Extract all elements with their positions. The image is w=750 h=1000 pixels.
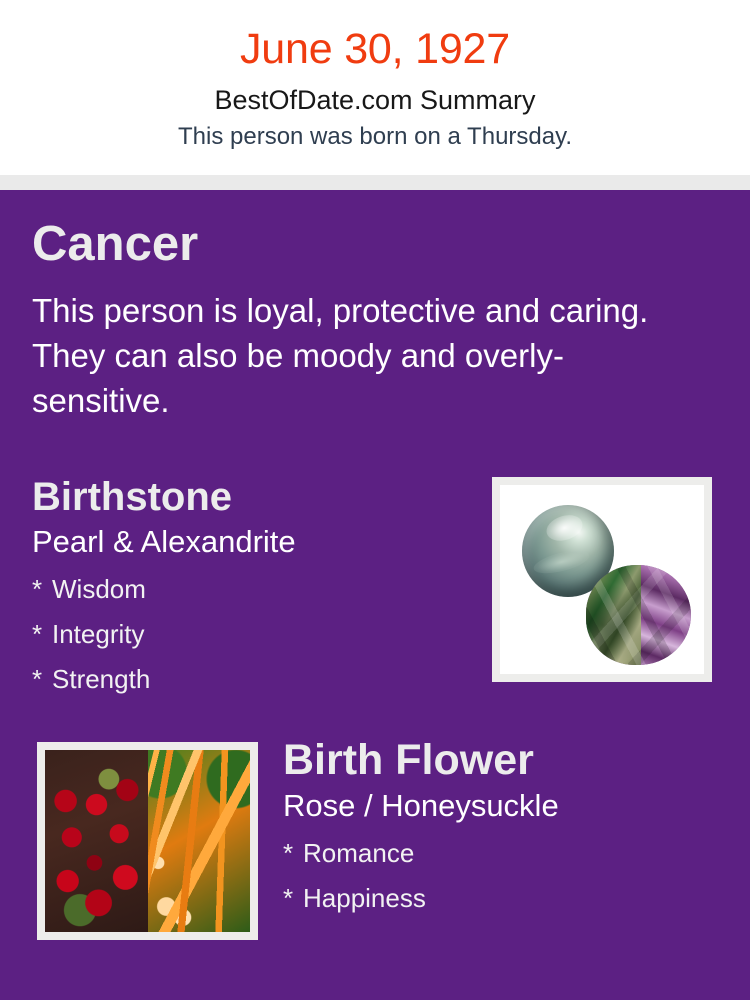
birthstone-trait-label: Strength xyxy=(52,664,150,694)
zodiac-description: This person is loyal, protective and car… xyxy=(32,288,652,423)
birthstone-trait-list: *Wisdom *Integrity *Strength xyxy=(32,561,462,702)
page-title: June 30, 1927 xyxy=(0,0,750,74)
birthstone-image xyxy=(500,485,704,674)
birthstone-section: Birthstone Pearl & Alexandrite *Wisdom *… xyxy=(32,473,462,702)
site-name: BestOfDate.com Summary xyxy=(0,74,750,116)
header-divider xyxy=(0,175,750,190)
list-item: *Romance xyxy=(283,831,723,876)
asterisk-icon: * xyxy=(32,612,52,657)
asterisk-icon: * xyxy=(32,657,52,702)
flower-split-composite xyxy=(45,750,250,932)
asterisk-icon: * xyxy=(283,876,303,921)
weekday-line: This person was born on a Thursday. xyxy=(0,116,750,151)
birth-flower-trait-label: Happiness xyxy=(303,883,426,913)
list-item: *Integrity xyxy=(32,612,462,657)
honeysuckle-photo xyxy=(148,750,251,932)
summary-card: June 30, 1927 BestOfDate.com Summary Thi… xyxy=(0,0,750,1000)
zodiac-sign-title: Cancer xyxy=(32,216,198,272)
alexandrite-gem-icon xyxy=(586,565,691,665)
list-item: *Happiness xyxy=(283,876,723,921)
birth-flower-name: Rose / Honeysuckle xyxy=(283,785,723,825)
birthstone-image-frame xyxy=(492,477,712,682)
birth-flower-heading: Birth Flower xyxy=(283,735,723,785)
birthstone-name: Pearl & Alexandrite xyxy=(32,521,462,561)
birthstone-trait-label: Integrity xyxy=(52,619,145,649)
birth-flower-image xyxy=(45,750,250,932)
birthstone-trait-label: Wisdom xyxy=(52,574,146,604)
alexandrite-facet-overlay xyxy=(586,565,691,665)
birth-flower-section: Birth Flower Rose / Honeysuckle *Romance… xyxy=(283,735,723,921)
list-item: *Wisdom xyxy=(32,567,462,612)
red-roses-photo xyxy=(45,750,148,932)
list-item: *Strength xyxy=(32,657,462,702)
birthstone-heading: Birthstone xyxy=(32,473,462,521)
asterisk-icon: * xyxy=(32,567,52,612)
header: June 30, 1927 BestOfDate.com Summary Thi… xyxy=(0,0,750,175)
birth-flower-trait-list: *Romance *Happiness xyxy=(283,825,723,921)
birth-flower-trait-label: Romance xyxy=(303,838,414,868)
asterisk-icon: * xyxy=(283,831,303,876)
birth-flower-image-frame xyxy=(37,742,258,940)
